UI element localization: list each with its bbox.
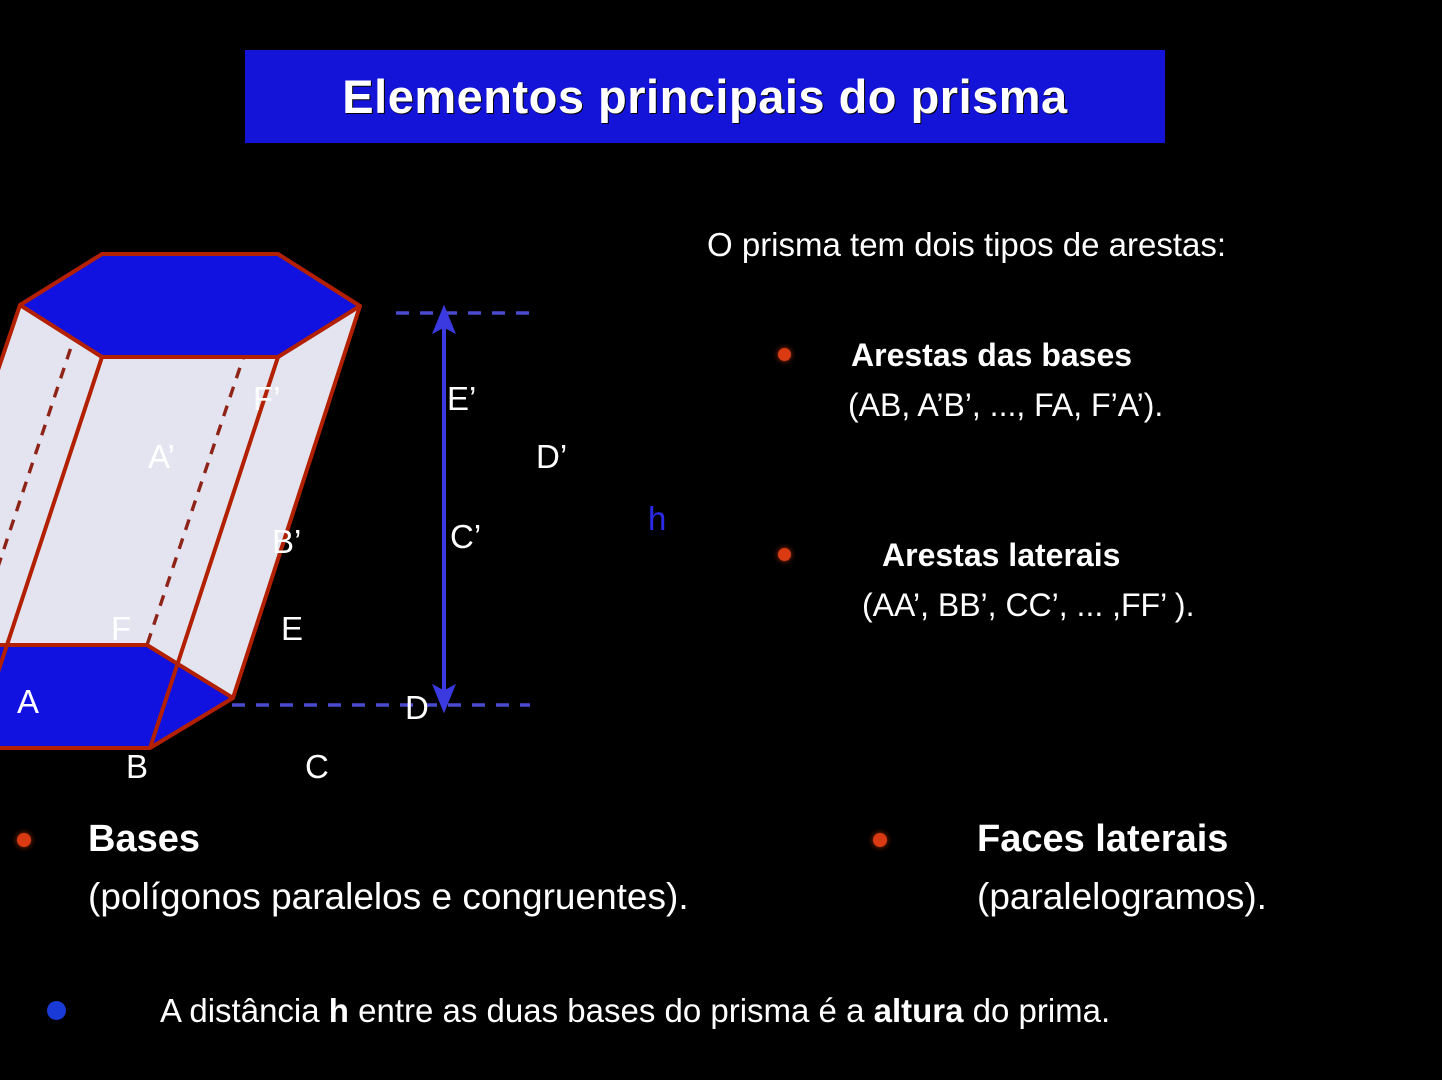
vertex-label-C-prime: C’ [450,520,481,553]
slide-title-banner: Elementos principais do prisma [245,50,1165,143]
vertex-label-B-prime: B’ [272,525,301,558]
bottom-column-detail: (polígonos paralelos e congruentes). [88,876,689,918]
vertex-label-D-prime: D’ [536,440,567,473]
footer-part-1: A distância [160,992,329,1029]
bullet-icon [17,833,31,847]
bullet-icon [778,348,791,361]
height-arrow [433,306,455,712]
footer-sentence: A distância h entre as duas bases do pri… [160,992,1110,1030]
prism-svg [0,170,730,810]
bullet-icon [778,548,791,561]
vertex-label-B: B [126,750,148,783]
edge-item-title: Arestas laterais [882,537,1120,574]
footer-bold-altura: altura [874,992,964,1029]
vertex-label-E-prime: E’ [447,382,476,415]
vertex-label-A: A [17,685,39,718]
footer-bold-h: h [329,992,349,1029]
bullet-icon [873,833,887,847]
edge-item-title: Arestas das bases [851,337,1132,374]
bullet-icon [47,1001,66,1020]
vertex-label-C: C [305,750,329,783]
footer-part-2: entre as duas bases do prisma é a [349,992,874,1029]
vertex-label-F: F [111,612,131,645]
page-title: Elementos principais do prisma [342,69,1067,124]
footer-part-3: do prima. [963,992,1110,1029]
vertex-label-E: E [281,612,303,645]
vertex-label-D: D [405,691,429,724]
vertex-label-F-prime: F’ [253,382,281,415]
edges-intro-text: O prisma tem dois tipos de arestas: [707,226,1226,264]
vertex-label-A-prime: A’ [148,440,175,473]
bottom-column-title: Faces laterais [977,818,1228,861]
bottom-column-detail: (paralelogramos). [977,876,1267,918]
height-label: h [648,500,666,538]
prism-diagram: A’ F’ E’ D’ C’ B’ A F E D C B h [0,170,730,810]
bottom-column-title: Bases [88,818,200,861]
edge-item-detail: (AB, A’B’, ..., FA, F’A’). [848,387,1163,424]
edge-item-detail: (AA’, BB’, CC’, ... ,FF’ ). [862,587,1194,624]
